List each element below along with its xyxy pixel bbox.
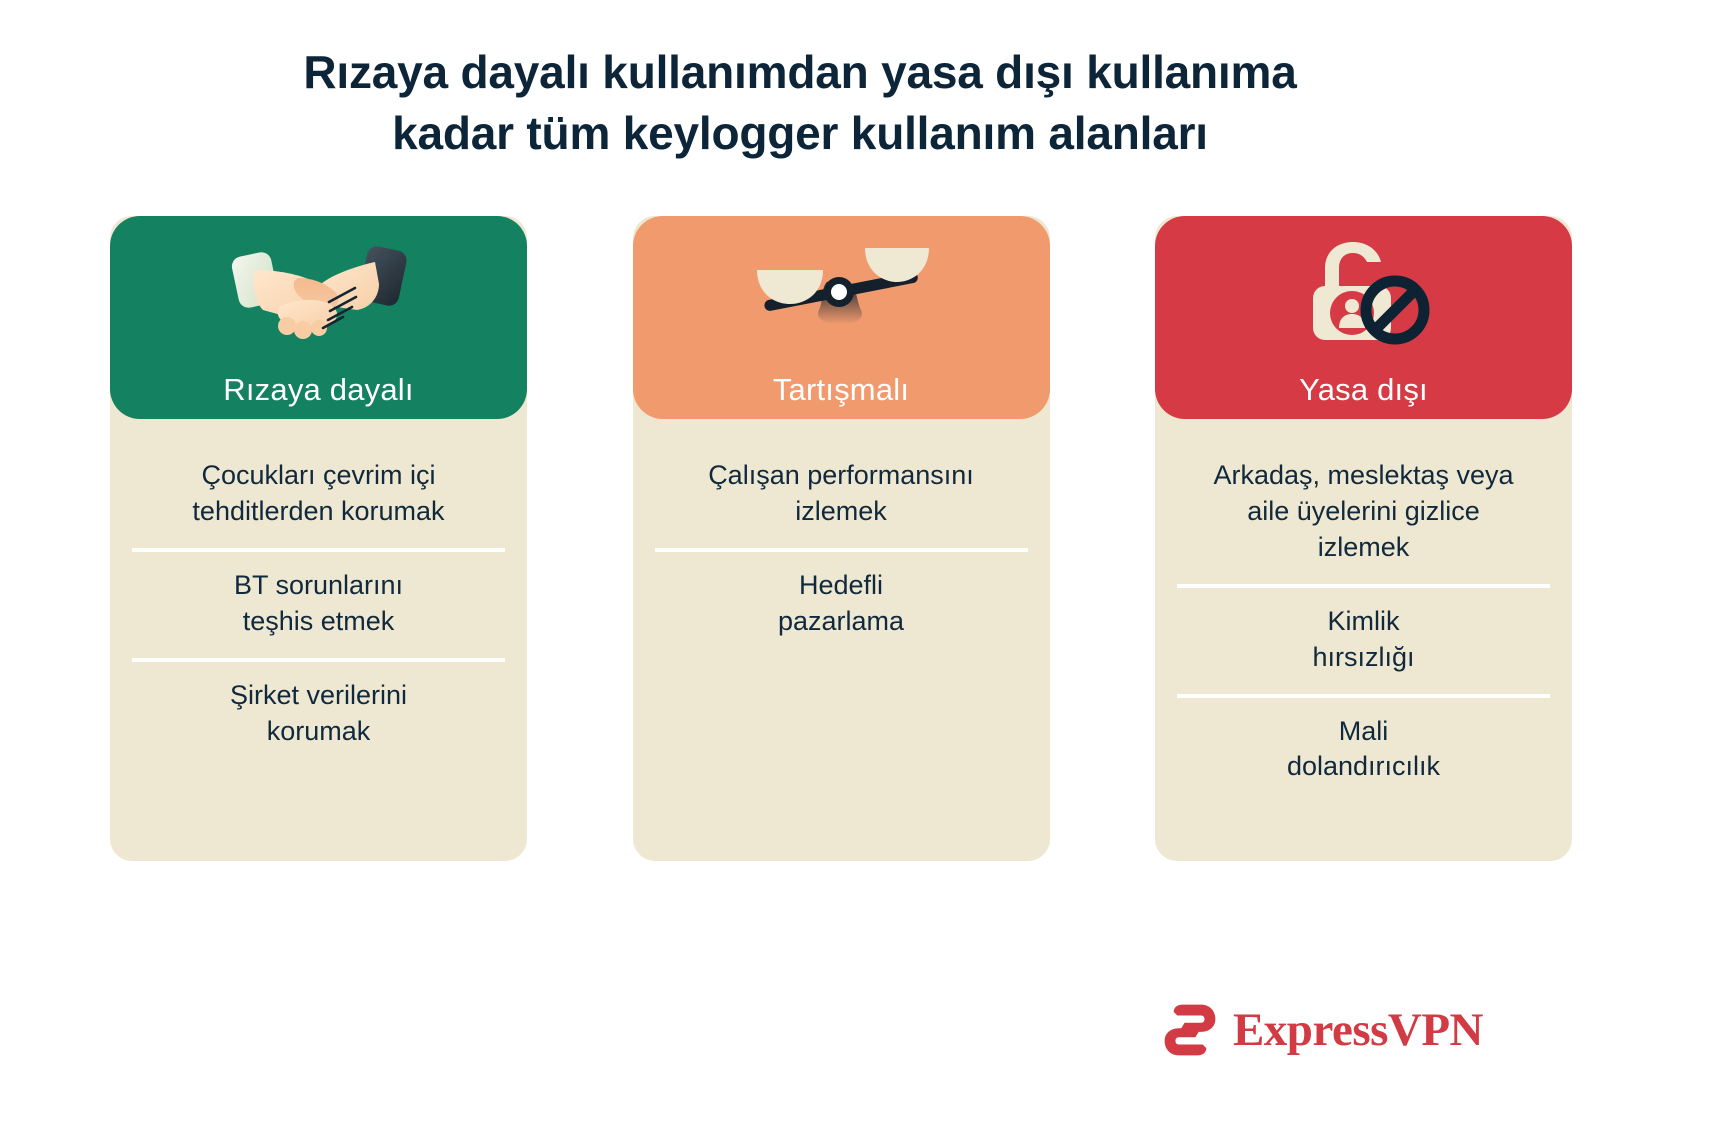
list-item-line: Arkadaş, meslektaş veya	[1183, 458, 1544, 494]
list-item-line: Kimlik	[1183, 604, 1544, 640]
list-item-line: Çocukları çevrim içi	[138, 458, 499, 494]
item-list-consent: Çocukları çevrim içi tehditlerden koruma…	[110, 442, 527, 767]
list-item: Çocukları çevrim içi tehditlerden koruma…	[132, 442, 505, 548]
list-item: Şirket verilerini korumak	[132, 658, 505, 768]
list-item-line: izlemek	[1183, 530, 1544, 566]
list-item-line: Şirket verilerini	[138, 678, 499, 714]
balance-scale-icon	[746, 238, 936, 350]
expressvpn-wordmark: ExpressVPN	[1233, 1007, 1483, 1054]
list-item: Kimlik hırsızlığı	[1177, 584, 1550, 694]
list-item-line: hırsızlığı	[1183, 640, 1544, 676]
item-list-debatable: Çalışan performansını izlemek Hedefli pa…	[633, 442, 1050, 658]
list-item-line: korumak	[138, 714, 499, 750]
list-item-line: pazarlama	[661, 604, 1022, 640]
list-item-line: dolandırıcılık	[1183, 749, 1544, 785]
card-header-debatable: Tartışmalı	[633, 216, 1050, 419]
list-item: Mali dolandırıcılık	[1177, 694, 1550, 804]
list-item-line: Hedefli	[661, 568, 1022, 604]
category-column-illegal: Arkadaş, meslektaş veya aile üyelerini g…	[1155, 216, 1572, 861]
list-item-line: izlemek	[661, 494, 1022, 530]
handshake-icon	[224, 238, 414, 350]
card-title-consent: Rızaya dayalı	[223, 373, 413, 407]
list-item: Çalışan performansını izlemek	[655, 442, 1028, 548]
expressvpn-e-mark-icon	[1161, 1001, 1219, 1059]
page-title: Rızaya dayalı kullanımdan yasa dışı kull…	[140, 42, 1460, 163]
unlocked-padlock-prohibited-icon	[1269, 238, 1459, 350]
page-title-line-2: kadar tüm keylogger kullanım alanları	[140, 103, 1460, 164]
card-header-consent: Rızaya dayalı	[110, 216, 527, 419]
category-column-consent: Çocukları çevrim içi tehditlerden koruma…	[110, 216, 527, 861]
list-item-line: tehditlerden korumak	[138, 494, 499, 530]
list-item-line: Çalışan performansını	[661, 458, 1022, 494]
list-item: BT sorunlarını teşhis etmek	[132, 548, 505, 658]
category-columns: Çocukları çevrim içi tehditlerden koruma…	[110, 216, 1572, 861]
list-item-line: aile üyelerini gizlice	[1183, 494, 1544, 530]
list-item-line: BT sorunlarını	[138, 568, 499, 604]
card-title-debatable: Tartışmalı	[773, 373, 909, 407]
card-title-illegal: Yasa dışı	[1299, 373, 1428, 407]
expressvpn-logo: ExpressVPN	[1161, 1001, 1483, 1059]
list-item: Hedefli pazarlama	[655, 548, 1028, 658]
list-item-line: Mali	[1183, 714, 1544, 750]
card-header-illegal: Yasa dışı	[1155, 216, 1572, 419]
page-title-line-1: Rızaya dayalı kullanımdan yasa dışı kull…	[140, 42, 1460, 103]
category-column-debatable: Çalışan performansını izlemek Hedefli pa…	[633, 216, 1050, 861]
list-item-line: teşhis etmek	[138, 604, 499, 640]
item-list-illegal: Arkadaş, meslektaş veya aile üyelerini g…	[1155, 442, 1572, 803]
infographic-page: Rızaya dayalı kullanımdan yasa dışı kull…	[0, 0, 1709, 1121]
list-item: Arkadaş, meslektaş veya aile üyelerini g…	[1177, 442, 1550, 584]
